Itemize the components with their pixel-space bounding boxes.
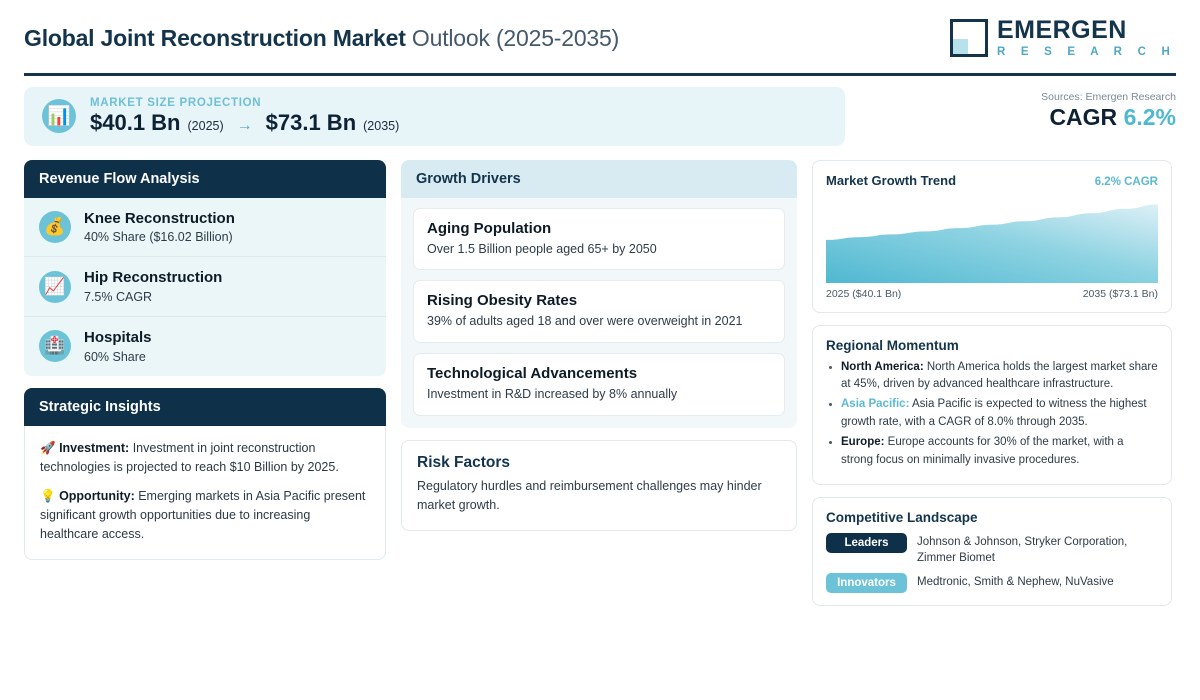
revenue-row[interactable]: 🏥 Hospitals 60% Share — [24, 317, 386, 376]
growth-driver-title: Rising Obesity Rates — [427, 292, 771, 309]
regional-item: Europe: Europe accounts for 30% of the m… — [826, 434, 1158, 469]
cagr-value: 6.2% — [1124, 104, 1176, 130]
page-header: Global Joint Reconstruction Market Outlo… — [24, 0, 1176, 76]
regional-momentum-card: Regional Momentum North America: North A… — [812, 325, 1172, 486]
revenue-row-sub: 7.5% CAGR — [84, 290, 222, 304]
competitive-landscape-title: Competitive Landscape — [826, 510, 1158, 525]
regional-item-label: Europe: — [841, 436, 884, 448]
innovators-names: Medtronic, Smith & Nephew, NuVasive — [917, 573, 1114, 591]
rocket-icon: 🚀 — [40, 441, 56, 455]
regional-item: North America: North America holds the l… — [826, 359, 1158, 394]
revenue-flow-title: Revenue Flow Analysis — [24, 160, 386, 198]
regional-momentum-title: Regional Momentum — [826, 338, 1158, 353]
risk-factors-title: Risk Factors — [417, 454, 781, 472]
logo-square-icon — [950, 19, 988, 57]
revenue-flow-panel: Revenue Flow Analysis 💰 Knee Reconstruct… — [24, 160, 386, 376]
regional-momentum-list: North America: North America holds the l… — [826, 359, 1158, 470]
left-column: Revenue Flow Analysis 💰 Knee Reconstruct… — [24, 160, 386, 572]
growth-area-chart-svg — [826, 197, 1158, 283]
insight-label: Opportunity: — [59, 489, 135, 503]
arrow-right-icon: → — [231, 117, 259, 135]
market-growth-trend-title: Market Growth Trend — [826, 173, 956, 188]
cagr-badge: 6.2% CAGR — [1095, 176, 1158, 188]
insight-item: 💡 Opportunity: Emerging markets in Asia … — [40, 487, 370, 545]
growth-area-chart — [826, 197, 1158, 283]
emergen-research-logo: EMERGEN R E S E A R C H — [950, 18, 1176, 59]
page-title-strong: Global Joint Reconstruction Market — [24, 25, 406, 51]
leaders-badge: Leaders — [826, 533, 907, 553]
revenue-row-title: Hospitals — [84, 329, 152, 348]
insight-label: Investment: — [59, 441, 129, 455]
innovators-badge: Innovators — [826, 573, 907, 593]
market-size-content: MARKET SIZE PROJECTION $40.1 Bn (2025) →… — [90, 97, 399, 136]
market-year-start: (2025) — [188, 119, 224, 133]
strategic-insights-title: Strategic Insights — [24, 388, 386, 426]
cagr-label: CAGR — [1049, 104, 1117, 130]
strategic-insights-body: 🚀 Investment: Investment in joint recons… — [24, 426, 386, 560]
growth-driver-card[interactable]: Rising Obesity Rates 39% of adults aged … — [413, 280, 785, 343]
growth-drivers-panel: Growth Drivers Aging Population Over 1.5… — [401, 160, 797, 429]
revenue-flow-body: 💰 Knee Reconstruction 40% Share ($16.02 … — [24, 198, 386, 376]
market-size-values: $40.1 Bn (2025) → $73.1 Bn (2035) — [90, 110, 399, 136]
growth-driver-sub: Over 1.5 Billion people aged 65+ by 2050 — [427, 241, 771, 258]
regional-item: Asia Pacific: Asia Pacific is expected t… — [826, 396, 1158, 431]
strategic-insights-panel: Strategic Insights 🚀 Investment: Investm… — [24, 388, 386, 560]
leaders-names: Johnson & Johnson, Stryker Corporation, … — [917, 533, 1158, 566]
risk-factors-card: Risk Factors Regulatory hurdles and reim… — [401, 440, 797, 531]
risk-factors-text: Regulatory hurdles and reimbursement cha… — [417, 477, 781, 515]
regional-item-text: Europe accounts for 30% of the market, w… — [841, 436, 1124, 465]
light-bulb-icon: 💡 — [40, 489, 56, 503]
market-value-end: $73.1 Bn — [266, 110, 357, 136]
middle-column: Growth Drivers Aging Population Over 1.5… — [401, 160, 797, 531]
competitive-row: Leaders Johnson & Johnson, Stryker Corpo… — [826, 533, 1158, 566]
content-columns: Revenue Flow Analysis 💰 Knee Reconstruct… — [24, 160, 1176, 619]
growth-driver-title: Technological Advancements — [427, 365, 771, 382]
market-value-start: $40.1 Bn — [90, 110, 181, 136]
growth-driver-card[interactable]: Technological Advancements Investment in… — [413, 353, 785, 416]
revenue-row-text: Hospitals 60% Share — [84, 329, 152, 364]
revenue-row[interactable]: 📈 Hip Reconstruction 7.5% CAGR — [24, 257, 386, 317]
banner-right-block: Sources: Emergen Research CAGR 6.2% — [861, 87, 1176, 131]
market-growth-trend-header: Market Growth Trend 6.2% CAGR — [826, 173, 1158, 188]
growth-driver-title: Aging Population — [427, 220, 771, 237]
bar-chart-icon: 📊 — [42, 99, 76, 133]
hospital-icon: 🏥 — [39, 330, 71, 362]
growth-driver-card[interactable]: Aging Population Over 1.5 Billion people… — [413, 208, 785, 271]
revenue-row-title: Knee Reconstruction — [84, 210, 235, 229]
logo-primary-text: EMERGEN — [997, 18, 1176, 43]
cagr-summary: CAGR 6.2% — [861, 104, 1176, 131]
insight-item: 🚀 Investment: Investment in joint recons… — [40, 439, 370, 478]
revenue-row-title: Hip Reconstruction — [84, 269, 222, 288]
chart-axis-labels: 2025 ($40.1 Bn) 2035 ($73.1 Bn) — [826, 288, 1158, 300]
revenue-row-text: Hip Reconstruction 7.5% CAGR — [84, 269, 222, 304]
market-size-banner: 📊 MARKET SIZE PROJECTION $40.1 Bn (2025)… — [24, 87, 845, 146]
regional-item-label: Asia Pacific: — [841, 398, 909, 410]
infographic-page: Global Joint Reconstruction Market Outlo… — [0, 0, 1200, 700]
market-growth-trend-card: Market Growth Trend 6.2% CAGR — [812, 160, 1172, 313]
competitive-landscape-card: Competitive Landscape Leaders Johnson & … — [812, 497, 1172, 606]
chart-axis-right: 2035 ($73.1 Bn) — [1083, 288, 1158, 300]
logo-wordmark: EMERGEN R E S E A R C H — [997, 18, 1176, 59]
sources-text: Sources: Emergen Research — [861, 91, 1176, 103]
revenue-row-sub: 40% Share ($16.02 Billion) — [84, 230, 235, 244]
page-title-light: Outlook (2025-2035) — [412, 25, 619, 51]
market-size-banner-row: 📊 MARKET SIZE PROJECTION $40.1 Bn (2025)… — [24, 87, 1176, 146]
growth-driver-sub: 39% of adults aged 18 and over were over… — [427, 313, 771, 330]
page-title: Global Joint Reconstruction Market Outlo… — [24, 25, 619, 52]
money-bag-icon: 💰 — [39, 211, 71, 243]
competitive-row: Innovators Medtronic, Smith & Nephew, Nu… — [826, 573, 1158, 593]
growth-drivers-body: Aging Population Over 1.5 Billion people… — [401, 198, 797, 429]
logo-secondary-text: R E S E A R C H — [997, 47, 1176, 59]
revenue-row[interactable]: 💰 Knee Reconstruction 40% Share ($16.02 … — [24, 198, 386, 258]
chart-axis-left: 2025 ($40.1 Bn) — [826, 288, 901, 300]
growth-drivers-title: Growth Drivers — [401, 160, 797, 198]
regional-item-label: North America: — [841, 361, 924, 373]
chart-increasing-icon: 📈 — [39, 271, 71, 303]
revenue-row-text: Knee Reconstruction 40% Share ($16.02 Bi… — [84, 210, 235, 245]
market-year-end: (2035) — [363, 119, 399, 133]
market-size-label: MARKET SIZE PROJECTION — [90, 97, 399, 109]
revenue-row-sub: 60% Share — [84, 350, 152, 364]
right-column: Market Growth Trend 6.2% CAGR — [812, 160, 1172, 619]
growth-driver-sub: Investment in R&D increased by 8% annual… — [427, 386, 771, 403]
